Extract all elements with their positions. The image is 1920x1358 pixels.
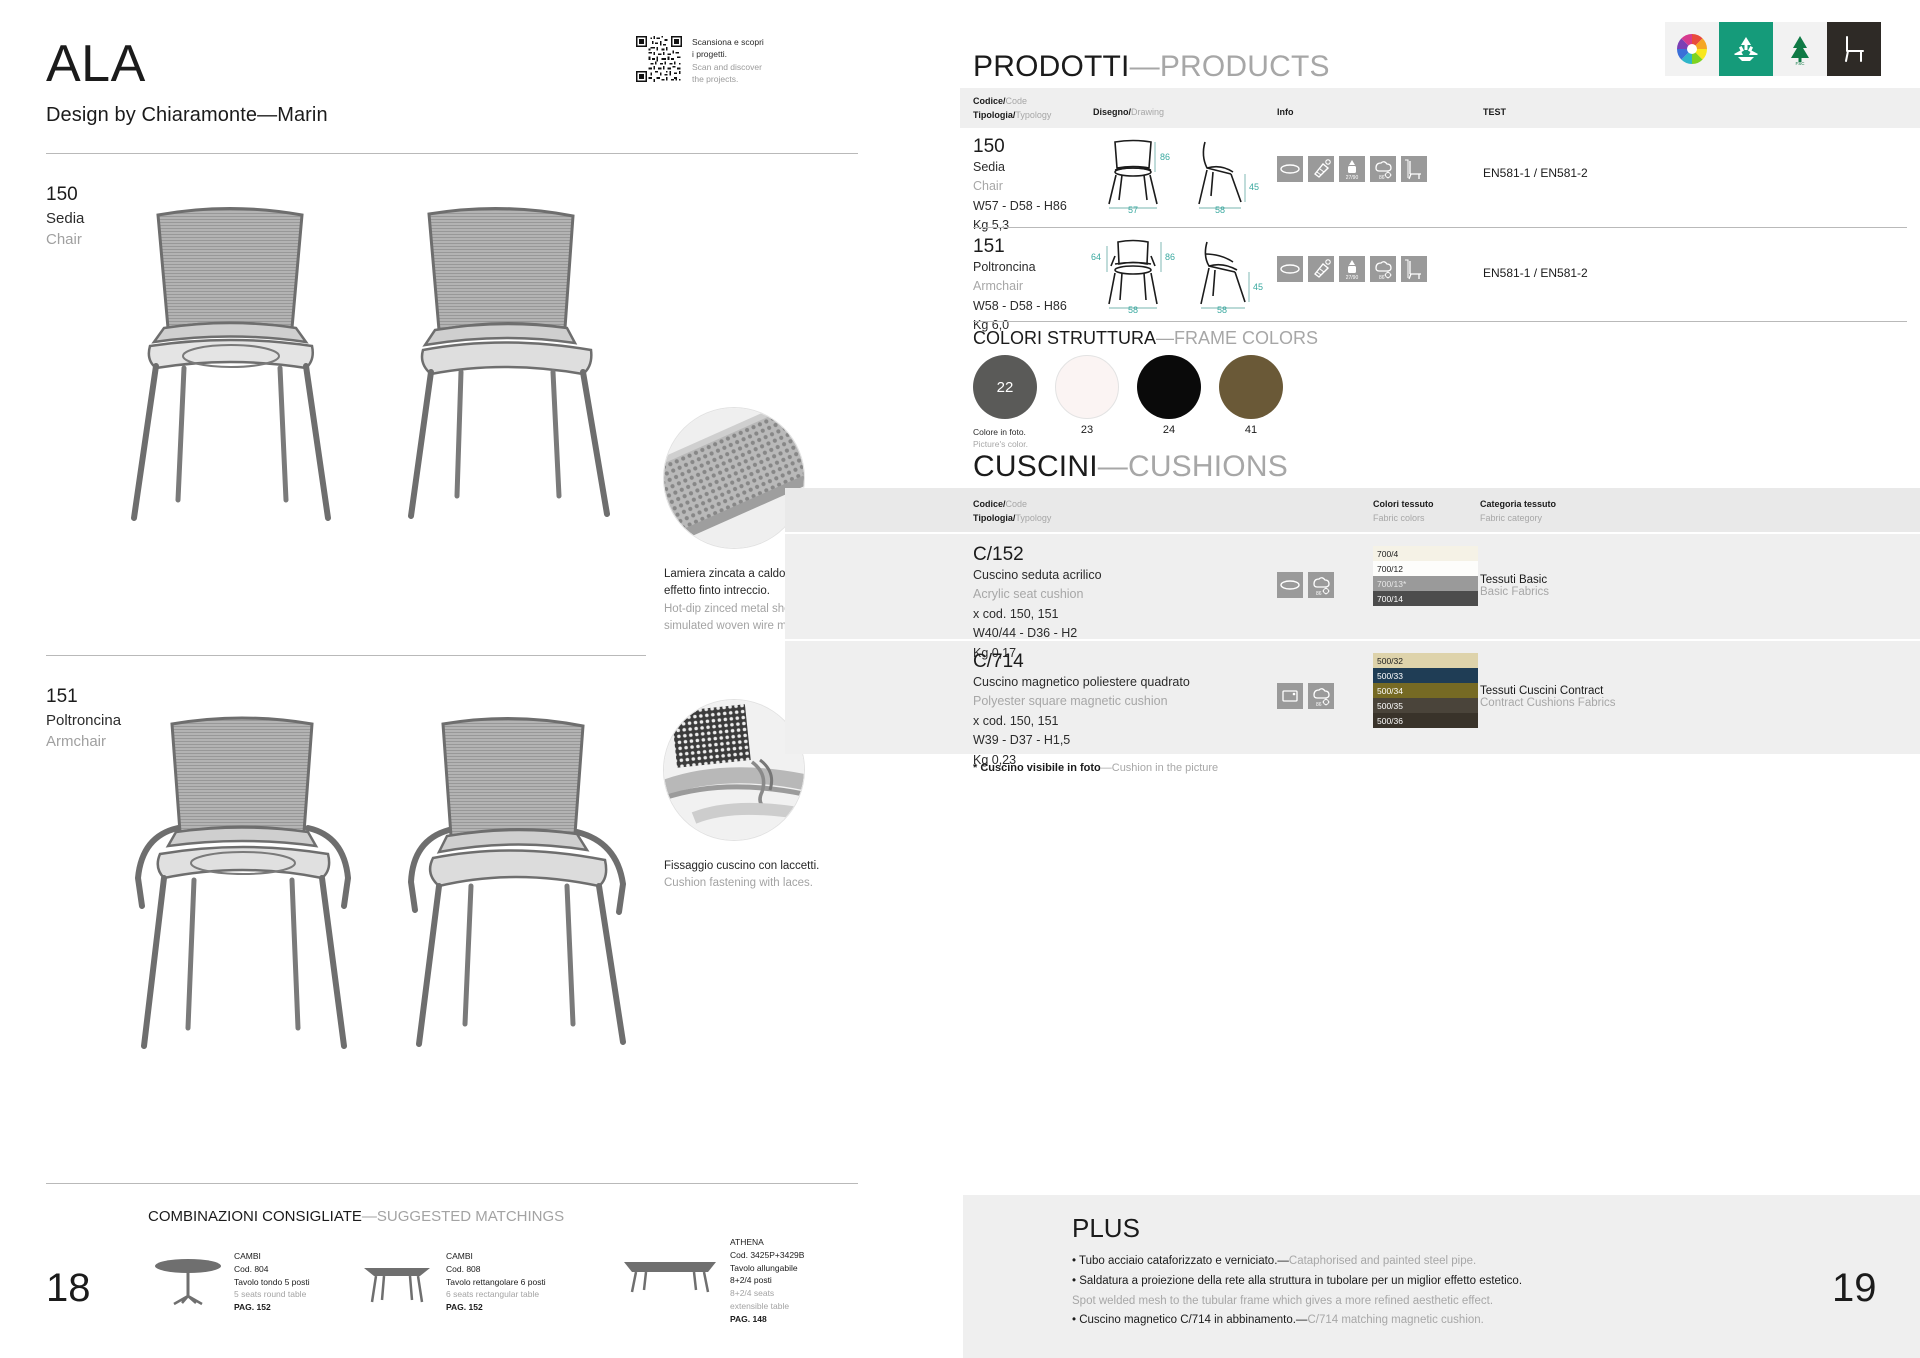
svg-text:58: 58 bbox=[1217, 305, 1227, 314]
svg-text:45: 45 bbox=[1253, 282, 1263, 292]
crow-c152-category: Tessuti Basic Basic Fabrics bbox=[1480, 574, 1549, 598]
svg-text:FSC: FSC bbox=[1796, 61, 1806, 66]
weather-icon: 86 bbox=[1308, 683, 1334, 709]
matching-1-page: PAG. 152 bbox=[234, 1301, 346, 1314]
cushions-title-it: CUSCINI bbox=[973, 450, 1098, 483]
crow-c714-en: Polyester square magnetic cushion bbox=[973, 692, 1190, 711]
svg-text:58: 58 bbox=[1215, 205, 1225, 214]
ph-col3: Info bbox=[1277, 107, 1294, 117]
stacking-icon: 27/90 bbox=[1339, 156, 1365, 182]
frame-swatch-23[interactable]: 23 bbox=[1055, 355, 1119, 451]
crow-c714-cat-it: Tessuti Cuscini Contract bbox=[1480, 685, 1616, 697]
prow-151-en: Armchair bbox=[973, 277, 1067, 296]
cushions-footnote-sep: — bbox=[1101, 762, 1112, 774]
ph-col4: TEST bbox=[1483, 107, 1506, 117]
crow-c152-cat-it: Tessuti Basic bbox=[1480, 574, 1549, 586]
product-label-151: 151 Poltroncina Armchair bbox=[46, 684, 121, 752]
recycle-icon bbox=[1719, 22, 1773, 76]
plus-4-it: • Cuscino magnetico C/714 in abbinamento… bbox=[1072, 1314, 1307, 1326]
prow-151-it: Poltroncina bbox=[973, 258, 1067, 277]
svg-text:86: 86 bbox=[1165, 252, 1175, 262]
svg-text:27/90: 27/90 bbox=[1346, 175, 1359, 181]
frame-swatch-41-num: 41 bbox=[1219, 424, 1283, 436]
svg-text:57: 57 bbox=[1128, 205, 1138, 214]
round-table-icon bbox=[152, 1250, 224, 1306]
qr-line-en-2: the projects. bbox=[692, 73, 787, 85]
cushion-icon bbox=[1277, 156, 1303, 182]
qr-line-it-1: Scansiona e scopri bbox=[692, 36, 787, 48]
stacking-icon: 27/90 bbox=[1339, 256, 1365, 282]
weather-icon: 86 bbox=[1370, 156, 1396, 182]
catalog-spread: ALA Design by Chiaramonte—Marin bbox=[0, 0, 1920, 1358]
products-section-title: PRODOTTI—PRODUCTS bbox=[973, 50, 1330, 84]
prow-150-icons: 27/90 86 bbox=[1277, 156, 1427, 182]
outdoor-use-icon bbox=[1401, 156, 1427, 182]
product-label-150: 150 Sedia Chair bbox=[46, 182, 84, 250]
product-code-151: 151 bbox=[46, 684, 121, 710]
product-name-en-150: Chair bbox=[46, 229, 84, 250]
crow-c714-fabrics: 500/32 500/33 500/34 500/35 500/36 bbox=[1373, 653, 1478, 728]
prow-150-code: 150 bbox=[973, 136, 1067, 158]
frame-swatch-41[interactable]: 41 bbox=[1219, 355, 1283, 451]
chair-150-photo-angle bbox=[395, 200, 625, 530]
matching-text-1: CAMBI Cod. 804 Tavolo tondo 5 posti 5 se… bbox=[234, 1250, 346, 1314]
divider-middle bbox=[46, 655, 646, 656]
matching-item-3: ATHENA Cod. 3425P+3429B Tavolo allungabi… bbox=[620, 1236, 852, 1325]
matching-3-code: Cod. 3425P+3429B bbox=[730, 1249, 852, 1262]
extensible-table-icon bbox=[620, 1236, 720, 1294]
chair-150-photo-front bbox=[120, 200, 350, 530]
frame-swatch-24-circle[interactable] bbox=[1137, 355, 1201, 419]
crow-c152-it: Cuscino seduta acrilico bbox=[973, 566, 1102, 585]
frame-swatch-41-circle[interactable] bbox=[1219, 355, 1283, 419]
products-table-header: Codice/Code Tipologia/Typology Disegno/D… bbox=[960, 88, 1920, 128]
prow-150-drawings: 86 57 45 58 bbox=[1095, 134, 1285, 214]
plus-1-en: Cataphorised and painted steel pipe. bbox=[1289, 1255, 1476, 1267]
cushions-table: Codice/Code Tipologia/Typology Colori te… bbox=[785, 488, 1920, 754]
detail-caption-lace: Fissaggio cuscino con laccetti. Cushion … bbox=[664, 858, 874, 893]
designer-credit: Design by Chiaramonte—Marin bbox=[46, 104, 328, 127]
chair-151-photo-angle bbox=[395, 710, 645, 1060]
crow-c152-fit: x cod. 150, 151 bbox=[973, 605, 1102, 624]
svg-text:86: 86 bbox=[1379, 175, 1385, 181]
prow-151-test: EN581-1 / EN581-2 bbox=[1483, 266, 1588, 280]
matching-1-en: 5 seats round table bbox=[234, 1288, 346, 1301]
divider-top bbox=[46, 153, 858, 154]
frame-swatch-22[interactable]: 22 Colore in foto. Picture's color. bbox=[973, 355, 1037, 451]
color-wheel-icon bbox=[1665, 22, 1719, 76]
page-number-left: 18 bbox=[46, 1266, 91, 1311]
ch-col1b-en: Typology bbox=[1015, 513, 1051, 523]
prow-150-en: Chair bbox=[973, 177, 1067, 196]
ph-col1-en: Code bbox=[1006, 96, 1028, 106]
prow-151-code: 151 bbox=[973, 236, 1067, 258]
frame-swatch-22-note-it: Colore in foto. bbox=[973, 426, 1037, 438]
outdoor-use-icon bbox=[1401, 256, 1427, 282]
rectangular-table-icon bbox=[358, 1250, 436, 1306]
prow-151-icons: 27/90 86 bbox=[1277, 256, 1427, 282]
svg-text:45: 45 bbox=[1249, 182, 1259, 192]
product-name-en-151: Armchair bbox=[46, 731, 121, 752]
ch-col1-en: Code bbox=[1006, 499, 1028, 509]
fabric-chip[interactable]: 700/14 bbox=[1373, 591, 1478, 606]
fsc-tree-icon: FSC bbox=[1773, 22, 1827, 76]
frame-swatch-22-note: Colore in foto. Picture's color. bbox=[973, 426, 1037, 451]
crow-c714-it: Cuscino magnetico poliestere quadrato bbox=[973, 673, 1190, 692]
ch-col3-it: Colori tessuto bbox=[1373, 498, 1434, 512]
page-title: ALA bbox=[46, 38, 328, 90]
matching-item-2: CAMBI Cod. 808 Tavolo rettangolare 6 pos… bbox=[358, 1250, 558, 1314]
qr-caption: Scansiona e scopri i progetti. Scan and … bbox=[692, 36, 787, 85]
matching-2-en: 6 seats rectangular table bbox=[446, 1288, 558, 1301]
matching-text-3: ATHENA Cod. 3425P+3429B Tavolo allungabi… bbox=[730, 1236, 852, 1325]
frame-colors-title-sep: — bbox=[1156, 328, 1174, 348]
frame-color-swatches: 22 Colore in foto. Picture's color. 23 2… bbox=[973, 355, 1283, 451]
detail-photo-lace bbox=[664, 700, 804, 840]
matching-3-name: ATHENA bbox=[730, 1236, 852, 1249]
frame-colors-title: COLORI STRUTTURA—FRAME COLORS bbox=[973, 328, 1318, 349]
plus-4-en: C/714 matching magnetic cushion. bbox=[1307, 1314, 1483, 1326]
cushions-table-header: Codice/Code Tipologia/Typology Colori te… bbox=[785, 488, 1920, 532]
crow-c714-icons: 86 bbox=[1277, 683, 1334, 709]
fabric-chip[interactable]: 500/32 bbox=[1373, 653, 1478, 668]
cleaning-icon bbox=[1308, 256, 1334, 282]
cushion-icon bbox=[1277, 256, 1303, 282]
product-row-150: 150 Sedia Chair W57 - D58 - H86 Kg 5,3 8… bbox=[960, 128, 1920, 228]
product-row-151: 151 Poltroncina Armchair W58 - D58 - H86… bbox=[960, 228, 1920, 328]
crow-c152-icons: 86 bbox=[1277, 572, 1334, 598]
square-cushion-icon bbox=[1277, 683, 1303, 709]
svg-text:58: 58 bbox=[1128, 305, 1138, 314]
ph-col1b-it: Tipologia/ bbox=[973, 110, 1015, 120]
detail-2-en-1: Cushion fastening with laces. bbox=[664, 875, 874, 892]
cushion-icon bbox=[1277, 572, 1303, 598]
matching-1-code: Cod. 804 bbox=[234, 1263, 346, 1276]
svg-text:27/90: 27/90 bbox=[1346, 275, 1359, 281]
qr-line-it-2: i progetti. bbox=[692, 48, 787, 60]
matching-2-page: PAG. 152 bbox=[446, 1301, 558, 1314]
matching-3-en: 8+2/4 seats bbox=[730, 1287, 852, 1300]
matchings-title-sep: — bbox=[362, 1208, 377, 1225]
ph-col1-it: Codice/ bbox=[973, 96, 1006, 106]
prow-151-dims: W58 - D58 - H86 bbox=[973, 297, 1067, 316]
crow-c152-fabrics: 700/4 700/12 700/13* 700/14 bbox=[1373, 546, 1478, 606]
matching-1-it: Tavolo tondo 5 posti bbox=[234, 1276, 346, 1289]
cushion-row-c152: C/152 Cuscino seduta acrilico Acrylic se… bbox=[785, 532, 1920, 639]
product-name-it-150: Sedia bbox=[46, 208, 84, 229]
plus-title: PLUS bbox=[1072, 1213, 1140, 1244]
prow-150-dims: W57 - D58 - H86 bbox=[973, 197, 1067, 216]
frame-swatch-23-num: 23 bbox=[1055, 424, 1119, 436]
cleaning-icon bbox=[1308, 156, 1334, 182]
matching-3-it2: 8+2/4 posti bbox=[730, 1274, 852, 1287]
fabric-chip[interactable]: 700/4 bbox=[1373, 546, 1478, 561]
page-number-right: 19 bbox=[1832, 1266, 1877, 1311]
chair-151-photo-front bbox=[120, 710, 370, 1060]
prow-151-drawings: 64 86 58 bbox=[1085, 234, 1285, 314]
svg-text:86: 86 bbox=[1379, 275, 1385, 281]
chair-outline-icon bbox=[1827, 22, 1881, 76]
right-page: FSC PRODOTTI—PRODUCTS Codice/Code Tipolo… bbox=[960, 0, 1920, 1358]
crow-c714-dims: W39 - D37 - H1,5 bbox=[973, 731, 1190, 750]
plus-1-it: • Tubo acciaio cataforizzato e verniciat… bbox=[1072, 1255, 1289, 1267]
matchings-title-it: COMBINAZIONI CONSIGLIATE bbox=[148, 1208, 362, 1225]
frame-swatch-24-num: 24 bbox=[1137, 424, 1201, 436]
ch-col3-en: Fabric colors bbox=[1373, 512, 1434, 526]
svg-text:86: 86 bbox=[1316, 702, 1322, 708]
matching-2-name: CAMBI bbox=[446, 1250, 558, 1263]
products-title-en: PRODUCTS bbox=[1160, 50, 1330, 83]
fabric-chip[interactable]: 500/35 bbox=[1373, 698, 1478, 713]
frame-swatch-23-circle[interactable] bbox=[1055, 355, 1119, 419]
qr-line-en-1: Scan and discover bbox=[692, 61, 787, 73]
plus-2-it: • Saldatura a proiezione della rete alla… bbox=[1072, 1275, 1522, 1287]
eco-icon-bar: FSC bbox=[1665, 22, 1881, 76]
ph-col1b-en: Typology bbox=[1015, 110, 1051, 120]
fabric-chip[interactable]: 700/12 bbox=[1373, 561, 1478, 576]
crow-c714-fit: x cod. 150, 151 bbox=[973, 712, 1190, 731]
crow-c714-cat-en: Contract Cushions Fabrics bbox=[1480, 697, 1616, 709]
svg-text:64: 64 bbox=[1091, 252, 1101, 262]
crow-c714-code: C/714 bbox=[973, 651, 1190, 673]
ch-col4-it: Categoria tessuto bbox=[1480, 498, 1556, 512]
matching-text-2: CAMBI Cod. 808 Tavolo rettangolare 6 pos… bbox=[446, 1250, 558, 1314]
qr-code-icon[interactable] bbox=[636, 36, 682, 82]
crow-c152-cat-en: Basic Fabrics bbox=[1480, 586, 1549, 598]
detail-photo-mesh bbox=[664, 408, 804, 548]
prow-150-test: EN581-1 / EN581-2 bbox=[1483, 166, 1588, 180]
crow-c152-en: Acrylic seat cushion bbox=[973, 585, 1102, 604]
frame-swatch-22-note-en: Picture's color. bbox=[973, 438, 1037, 450]
cushions-footnote-it: * Cuscino visibile in foto bbox=[973, 762, 1101, 774]
plus-list: • Tubo acciaio cataforizzato e verniciat… bbox=[1072, 1252, 1692, 1331]
weather-icon: 86 bbox=[1308, 572, 1334, 598]
fabric-chip[interactable]: 700/13* bbox=[1373, 576, 1478, 591]
cushion-row-c714: C/714 Cuscino magnetico poliestere quadr… bbox=[785, 639, 1920, 754]
matching-1-name: CAMBI bbox=[234, 1250, 346, 1263]
ch-col1-it: Codice/ bbox=[973, 499, 1006, 509]
matching-2-code: Cod. 808 bbox=[446, 1263, 558, 1276]
ph-col2-it: Disegno/ bbox=[1093, 107, 1131, 117]
matchings-title-en: SUGGESTED MATCHINGS bbox=[377, 1208, 564, 1225]
title-block: ALA Design by Chiaramonte—Marin bbox=[46, 38, 328, 127]
cushions-footnote: * Cuscino visibile in foto—Cushion in th… bbox=[973, 762, 1218, 774]
crow-c152-code: C/152 bbox=[973, 544, 1102, 566]
crow-c714-category: Tessuti Cuscini Contract Contract Cushio… bbox=[1480, 685, 1616, 709]
divider-bottom bbox=[46, 1183, 858, 1184]
fabric-chip[interactable]: 500/33 bbox=[1373, 668, 1478, 683]
ph-col2-en: Drawing bbox=[1131, 107, 1164, 117]
cushions-section-title: CUSCINI—CUSHIONS bbox=[973, 450, 1288, 484]
svg-text:86: 86 bbox=[1160, 152, 1170, 162]
frame-colors-title-it: COLORI STRUTTURA bbox=[973, 328, 1156, 348]
product-row-divider bbox=[973, 321, 1907, 322]
products-title-it: PRODOTTI bbox=[973, 50, 1130, 83]
matching-item-1: CAMBI Cod. 804 Tavolo tondo 5 posti 5 se… bbox=[152, 1250, 346, 1314]
matching-3-page: PAG. 148 bbox=[730, 1313, 852, 1326]
frame-swatch-24[interactable]: 24 bbox=[1137, 355, 1201, 451]
products-title-sep: — bbox=[1130, 50, 1160, 83]
frame-swatch-22-circle[interactable]: 22 bbox=[973, 355, 1037, 419]
matching-2-it: Tavolo rettangolare 6 posti bbox=[446, 1276, 558, 1289]
plus-3-en: Spot welded mesh to the tubular frame wh… bbox=[1072, 1295, 1493, 1307]
product-code-150: 150 bbox=[46, 182, 84, 208]
fabric-chip[interactable]: 500/36 bbox=[1373, 713, 1478, 728]
svg-text:86: 86 bbox=[1316, 591, 1322, 597]
ch-col1b-it: Tipologia/ bbox=[973, 513, 1015, 523]
qr-block[interactable]: Scansiona e scopri i progetti. Scan and … bbox=[636, 36, 787, 85]
prow-150-it: Sedia bbox=[973, 158, 1067, 177]
matching-3-it: Tavolo allungabile bbox=[730, 1262, 852, 1275]
fabric-chip[interactable]: 500/34 bbox=[1373, 683, 1478, 698]
cushions-title-sep: — bbox=[1098, 450, 1128, 483]
detail-2-it-1: Fissaggio cuscino con laccetti. bbox=[664, 858, 874, 875]
cushions-title-en: CUSHIONS bbox=[1128, 450, 1288, 483]
matchings-title: COMBINAZIONI CONSIGLIATE—SUGGESTED MATCH… bbox=[148, 1208, 564, 1225]
product-name-it-151: Poltroncina bbox=[46, 710, 121, 731]
frame-colors-title-en: FRAME COLORS bbox=[1174, 328, 1318, 348]
cushions-footnote-en: Cushion in the picture bbox=[1112, 762, 1218, 774]
ch-col4-en: Fabric category bbox=[1480, 512, 1556, 526]
matching-3-en2: extensible table bbox=[730, 1300, 852, 1313]
weather-icon: 86 bbox=[1370, 256, 1396, 282]
